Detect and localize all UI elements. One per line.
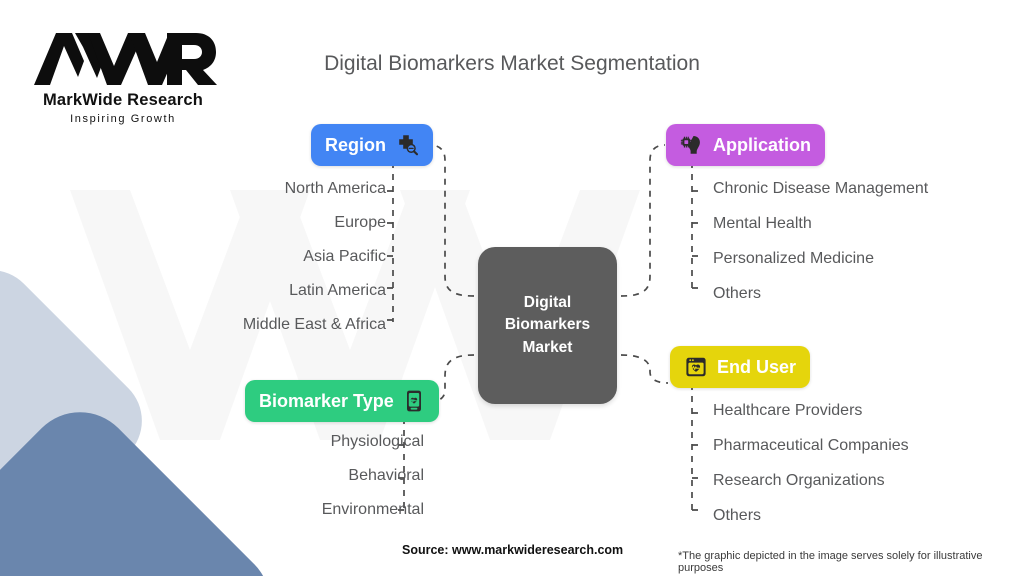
leaf-list-end-user: Healthcare Providers Pharmaceutical Comp… [713, 402, 909, 525]
ticks-application [692, 191, 702, 288]
leaf-item: Others [713, 285, 761, 303]
branch-label-application: Application [713, 135, 811, 156]
hand-chip-icon [680, 133, 704, 157]
leaf-list-biomarker-type: Physiological Behavioral Environmental [322, 433, 424, 519]
ticks-enduser [692, 413, 702, 510]
branch-node-region[interactable]: Region [311, 124, 433, 166]
branch-node-biomarker-type[interactable]: Biomarker Type [245, 380, 439, 422]
center-node-line-1: Digital [524, 294, 571, 311]
cross-magnifier-icon [395, 133, 419, 157]
leaf-item: Chronic Disease Management [713, 180, 928, 198]
leaf-item: Asia Pacific [303, 248, 386, 266]
center-node-digital-biomarkers-market[interactable]: Digital Biomarkers Market [478, 247, 617, 404]
leaf-item: Healthcare Providers [713, 402, 862, 420]
leaf-item: Research Organizations [713, 472, 885, 490]
mobile-heartbeat-icon [403, 389, 425, 413]
leaf-item: Others [713, 507, 761, 525]
leaf-item: Personalized Medicine [713, 250, 874, 268]
link-center-enduser [621, 355, 668, 383]
leaf-list-application: Chronic Disease Management Mental Health… [713, 180, 928, 303]
leaf-item: Pharmaceutical Companies [713, 437, 909, 455]
source-attribution: Source: www.markwideresearch.com [402, 543, 623, 557]
link-center-region [430, 145, 474, 296]
branch-node-application[interactable]: Application [666, 124, 825, 166]
leaf-item: Mental Health [713, 215, 812, 233]
branch-node-end-user[interactable]: End User [670, 346, 810, 388]
leaf-item: North America [285, 180, 386, 198]
branch-label-end-user: End User [717, 357, 796, 378]
branch-label-biomarker-type: Biomarker Type [259, 391, 394, 412]
center-node-line-2: Biomarkers [505, 316, 590, 333]
leaf-item: Latin America [289, 282, 386, 300]
leaf-item: Physiological [331, 433, 424, 451]
leaf-item: Middle East & Africa [243, 316, 386, 334]
leaf-list-region: North America Europe Asia Pacific Latin … [243, 180, 386, 334]
center-node-line-3: Market [523, 339, 573, 356]
window-heartbeat-icon [684, 355, 708, 379]
branch-label-region: Region [325, 135, 386, 156]
leaf-item: Environmental [322, 501, 424, 519]
leaf-item: Europe [334, 214, 386, 232]
leaf-item: Behavioral [348, 467, 424, 485]
segmentation-infographic: MarkWide Research Inspiring Growth Digit… [0, 0, 1024, 576]
disclaimer-note: *The graphic depicted in the image serve… [678, 550, 1024, 574]
link-center-application [621, 145, 665, 296]
